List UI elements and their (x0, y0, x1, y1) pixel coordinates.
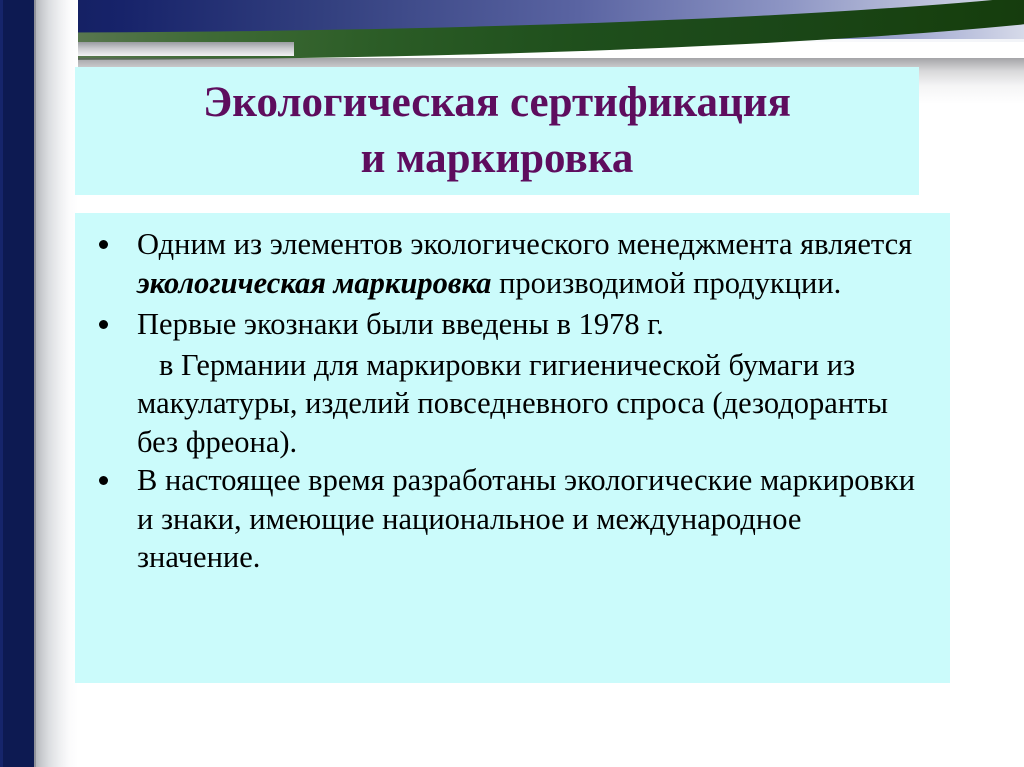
bullet-point-icon (99, 476, 108, 485)
bullet-text-after: производимой продукции. (491, 266, 841, 300)
bullet-text-before: В настоящее время разработаны экологичес… (137, 463, 915, 574)
list-item: Первые экознаки были введены в 1978 г. (75, 305, 950, 344)
bullet-point-icon (99, 240, 108, 249)
list-item: В настоящее время разработаны экологичес… (75, 461, 950, 577)
sub-paragraph: в Германии для маркировки гигиенической … (75, 346, 950, 462)
bullet-text-before: Одним из элементов экологического менедж… (137, 227, 912, 261)
slide-title-line-2: и маркировка (361, 131, 634, 187)
bullet-list: Одним из элементов экологического менедж… (75, 225, 950, 577)
left-navy-bar (0, 0, 34, 767)
inner-left-bevel (34, 0, 78, 767)
slide-title-box: Экологическая сертификация и маркировка (75, 67, 919, 195)
slide-content-box: Одним из элементов экологического менедж… (75, 213, 950, 683)
bullet-point-icon (99, 320, 108, 329)
slide-title-line-1: Экологическая сертификация (203, 75, 791, 131)
bullet-text-emphasis: экологическая маркировка (137, 266, 491, 300)
bullet-text-before: Первые экознаки были введены в 1978 г. (137, 307, 664, 341)
list-item: Одним из элементов экологического менедж… (75, 225, 950, 302)
presentation-slide: Экологическая сертификация и маркировка … (0, 0, 1024, 767)
